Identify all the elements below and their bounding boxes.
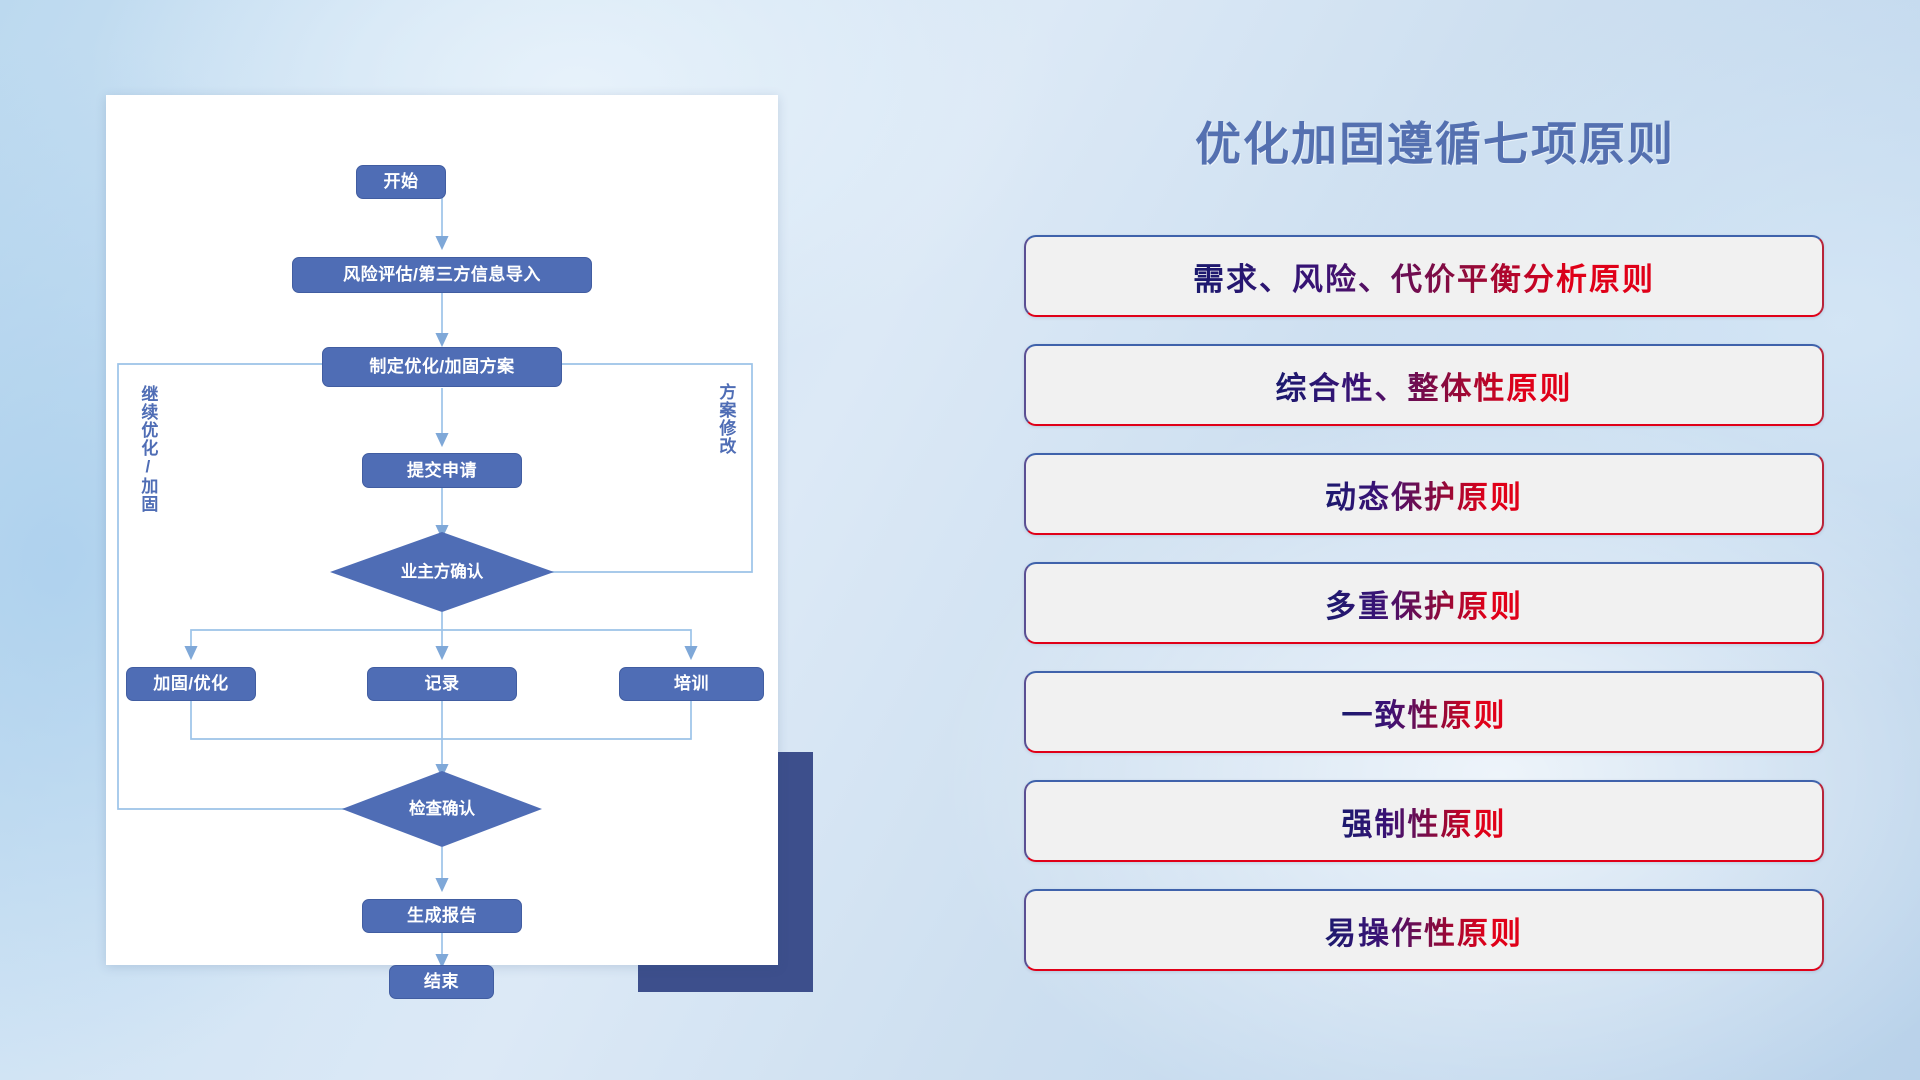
principles-panel: 优化加固遵循七项原则 需求、风险、代价平衡分析原则 综合性、整体性原则 动态保护… (1020, 0, 1850, 1080)
principle-card[interactable]: 需求、风险、代价平衡分析原则 (1024, 235, 1824, 317)
flow-node-generate-report-label: 生成报告 (407, 906, 477, 926)
flow-node-generate-report[interactable]: 生成报告 (362, 899, 522, 933)
flow-node-owner-confirm[interactable]: 业主方确认 (330, 532, 554, 612)
flow-node-make-plan[interactable]: 制定优化/加固方案 (322, 347, 562, 387)
flow-node-owner-confirm-label: 业主方确认 (401, 563, 484, 582)
principle-card-label: 易操作性原则 (1325, 908, 1523, 953)
principle-card[interactable]: 动态保护原则 (1024, 453, 1824, 535)
flow-edge-label-right-loop: 方案修改 (716, 383, 734, 455)
flow-node-risk-assessment-label: 风险评估/第三方信息导入 (343, 265, 541, 285)
slide-canvas: 开始 风险评估/第三方信息导入 制定优化/加固方案 提交申请 业主方确认 加固/… (0, 0, 1920, 1080)
flowchart-card: 开始 风险评估/第三方信息导入 制定优化/加固方案 提交申请 业主方确认 加固/… (106, 95, 778, 965)
principle-card[interactable]: 强制性原则 (1024, 780, 1824, 862)
flow-node-risk-assessment[interactable]: 风险评估/第三方信息导入 (292, 257, 592, 293)
flow-node-make-plan-label: 制定优化/加固方案 (369, 357, 514, 377)
flow-node-record[interactable]: 记录 (367, 667, 517, 701)
flow-node-reinforce-label: 加固/优化 (153, 674, 228, 694)
principle-card-label: 动态保护原则 (1325, 472, 1523, 517)
flow-edge-label-left-loop: 继续优化/加固 (138, 385, 156, 513)
flow-node-training[interactable]: 培训 (619, 667, 764, 701)
principle-card-label: 强制性原则 (1342, 799, 1507, 844)
panel-title: 优化加固遵循七项原则 (1020, 108, 1850, 174)
flow-node-submit-application-label: 提交申请 (407, 461, 477, 481)
principle-card[interactable]: 一致性原则 (1024, 671, 1824, 753)
flow-node-end[interactable]: 结束 (389, 965, 494, 999)
flow-node-check-confirm[interactable]: 检查确认 (342, 771, 542, 847)
flow-node-start[interactable]: 开始 (356, 165, 446, 199)
principle-card[interactable]: 多重保护原则 (1024, 562, 1824, 644)
flow-node-check-confirm-label: 检查确认 (409, 800, 475, 819)
principles-card-list: 需求、风险、代价平衡分析原则 综合性、整体性原则 动态保护原则 多重保护原则 一… (1024, 235, 1824, 998)
flow-node-end-label: 结束 (424, 972, 459, 992)
principle-card[interactable]: 易操作性原则 (1024, 889, 1824, 971)
flow-node-submit-application[interactable]: 提交申请 (362, 453, 522, 488)
flow-node-training-label: 培训 (674, 674, 709, 694)
principle-card-label: 多重保护原则 (1325, 581, 1523, 626)
flow-node-start-label: 开始 (384, 172, 419, 192)
flow-node-reinforce[interactable]: 加固/优化 (126, 667, 256, 701)
flow-node-record-label: 记录 (425, 674, 460, 694)
principle-card-label: 需求、风险、代价平衡分析原则 (1193, 254, 1655, 299)
principle-card-label: 一致性原则 (1342, 690, 1507, 735)
principle-card-label: 综合性、整体性原则 (1276, 363, 1573, 408)
flowchart-canvas: 开始 风险评估/第三方信息导入 制定优化/加固方案 提交申请 业主方确认 加固/… (106, 95, 778, 965)
principle-card[interactable]: 综合性、整体性原则 (1024, 344, 1824, 426)
